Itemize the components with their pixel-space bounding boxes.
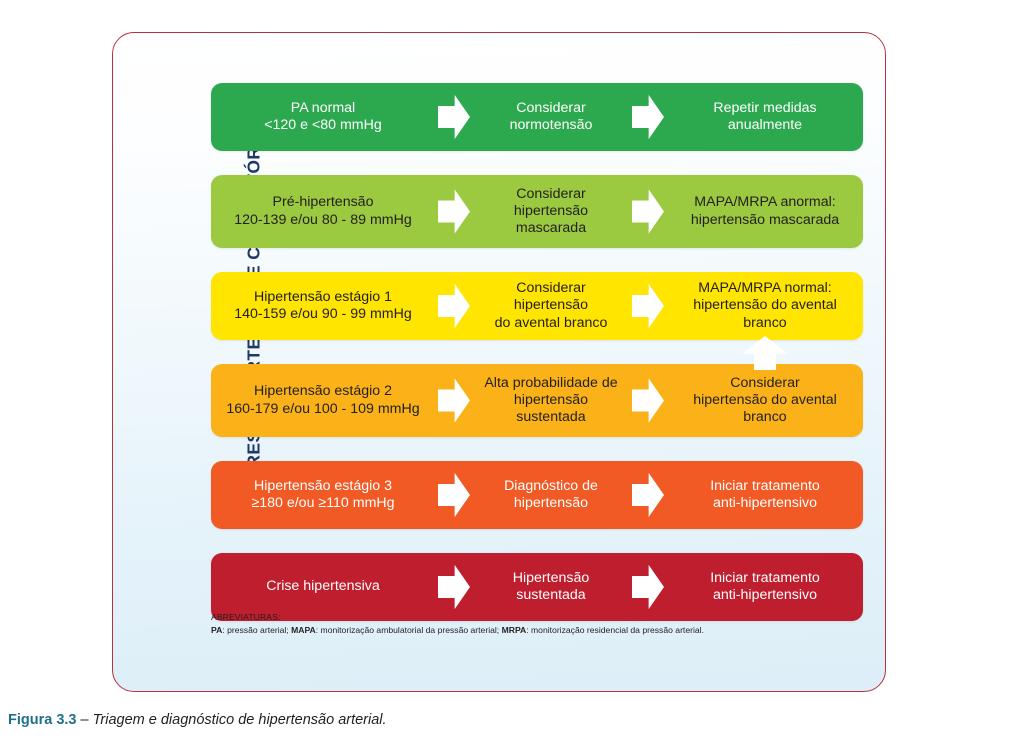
cell-line: anti-hipertensivo xyxy=(710,495,820,512)
abbrev-val-mrpa: : monitorização residencial da pressão a… xyxy=(526,625,704,635)
row-cell-condition: Hipertensão estágio 3 ≥180 e/ou ≥110 mmH… xyxy=(211,461,435,529)
arrow-right-icon xyxy=(629,364,667,437)
arrow-right-icon xyxy=(435,364,473,437)
row-cell-condition: PA normal <120 e <80 mmHg xyxy=(211,83,435,151)
cell-line: branco xyxy=(693,409,837,426)
cell-line: Hipertensão xyxy=(513,570,590,587)
cell-line: Hipertensão estágio 2 xyxy=(226,383,419,400)
cell-line: normotensão xyxy=(510,117,593,134)
cell-line: 140-159 e/ou 90 - 99 mmHg xyxy=(234,306,411,323)
cell-line: Hipertensão estágio 1 xyxy=(234,289,411,306)
cell-line: Alta probabilidade de xyxy=(479,375,623,392)
abbrev-val-mapa: : monitorização ambulatorial da pressão … xyxy=(316,625,502,635)
cell-line: hipertensão do avental xyxy=(693,297,837,314)
row-cell-action: Iniciar tratamento anti-hipertensivo xyxy=(667,461,863,529)
row-cell-assessment: Considerar hipertensão do avental branco xyxy=(473,272,629,340)
cell-line: Considerar xyxy=(510,100,593,117)
cell-line: <120 e <80 mmHg xyxy=(264,117,382,134)
flow-row-estagio-2[interactable]: Hipertensão estágio 2 160-179 e/ou 100 -… xyxy=(211,364,863,437)
abbreviations-title: ABREVIATURAS: xyxy=(211,611,871,624)
flow-row-estagio-3[interactable]: Hipertensão estágio 3 ≥180 e/ou ≥110 mmH… xyxy=(211,461,863,529)
cell-line: hipertensão do avental xyxy=(693,392,837,409)
figure-page: PRESSÃO ARTERIAL DE CONSULTÓRIO PA norma… xyxy=(0,0,1024,754)
arrow-right-icon xyxy=(629,461,667,529)
cell-line: branco xyxy=(693,315,837,332)
cell-line: Repetir medidas xyxy=(713,100,816,117)
arrow-right-icon xyxy=(435,175,473,248)
cell-line: Diagnóstico de xyxy=(504,478,598,495)
cell-line: hipertensão xyxy=(514,203,588,220)
cell-line: Iniciar tratamento xyxy=(710,570,820,587)
abbrev-val-pa: : pressão arterial; xyxy=(222,625,291,635)
arrow-right-icon xyxy=(435,272,473,340)
row-cell-condition: Hipertensão estágio 2 160-179 e/ou 100 -… xyxy=(211,364,435,437)
cell-line: 120-139 e/ou 80 - 89 mmHg xyxy=(234,212,411,229)
row-cell-assessment: Diagnóstico de hipertensão xyxy=(473,461,629,529)
flow-row-estagio-1[interactable]: Hipertensão estágio 1 140-159 e/ou 90 - … xyxy=(211,272,863,340)
row-cell-condition: Hipertensão estágio 1 140-159 e/ou 90 - … xyxy=(211,272,435,340)
figure-frame: PRESSÃO ARTERIAL DE CONSULTÓRIO PA norma… xyxy=(112,32,886,692)
row-cell-action: Repetir medidas anualmente xyxy=(667,83,863,151)
cell-line: 160-179 e/ou 100 - 109 mmHg xyxy=(226,401,419,418)
cell-line: hipertensão mascarada xyxy=(691,212,839,229)
cell-line: anualmente xyxy=(713,117,816,134)
row-cell-action: MAPA/MRPA anormal: hipertensão mascarada xyxy=(667,175,863,248)
cell-line: hipertensão sustentada xyxy=(479,392,623,427)
flow-row-pre-hipertensao[interactable]: Pré-hipertensão 120-139 e/ou 80 - 89 mmH… xyxy=(211,175,863,248)
caption-text: Triagem e diagnóstico de hipertensão art… xyxy=(93,712,387,728)
abbreviations-body: PA: pressão arterial; MAPA: monitorizaçã… xyxy=(211,624,871,637)
row-cell-assessment: Considerar normotensão xyxy=(473,83,629,151)
arrow-right-icon xyxy=(629,175,667,248)
row-cell-condition: Pré-hipertensão 120-139 e/ou 80 - 89 mmH… xyxy=(211,175,435,248)
arrow-right-icon xyxy=(435,83,473,151)
cell-line: sustentada xyxy=(513,587,590,604)
arrow-right-icon xyxy=(629,272,667,340)
cell-line: Iniciar tratamento xyxy=(710,478,820,495)
cell-line: MAPA/MRPA normal: xyxy=(693,280,837,297)
row-cell-action: MAPA/MRPA normal: hipertensão do avental… xyxy=(667,272,863,340)
caption-dash: – xyxy=(77,712,93,728)
row-cell-assessment: Alta probabilidade de hipertensão susten… xyxy=(473,364,629,437)
cell-line: anti-hipertensivo xyxy=(710,587,820,604)
cell-line: Pré-hipertensão xyxy=(234,194,411,211)
cell-line: Considerar hipertensão xyxy=(479,280,623,315)
cell-line: hipertensão xyxy=(504,495,598,512)
cell-line: Crise hipertensiva xyxy=(266,578,380,595)
cell-line: ≥180 e/ou ≥110 mmHg xyxy=(251,495,394,512)
cell-line: mascarada xyxy=(514,220,588,237)
figure-caption: Figura 3.3 – Triagem e diagnóstico de hi… xyxy=(8,712,387,728)
arrow-right-icon xyxy=(435,461,473,529)
row-cell-assessment: Considerar hipertensão mascarada xyxy=(473,175,629,248)
abbrev-key-pa: PA xyxy=(211,625,222,635)
abbrev-key-mrpa: MRPA xyxy=(502,625,527,635)
arrow-right-icon xyxy=(629,83,667,151)
figure-number: Figura 3.3 xyxy=(8,712,77,728)
row-cell-action: Considerar hipertensão do avental branco xyxy=(667,364,863,437)
abbreviations-block: ABREVIATURAS: PA: pressão arterial; MAPA… xyxy=(211,611,871,638)
cell-line: Hipertensão estágio 3 xyxy=(251,478,394,495)
flow-row-pa-normal[interactable]: PA normal <120 e <80 mmHg Considerar nor… xyxy=(211,83,863,151)
cell-line: MAPA/MRPA anormal: xyxy=(691,194,839,211)
cell-line: Considerar xyxy=(514,186,588,203)
abbrev-key-mapa: MAPA xyxy=(291,625,316,635)
cell-line: PA normal xyxy=(264,100,382,117)
cell-line: Considerar xyxy=(693,375,837,392)
cell-line: do avental branco xyxy=(479,315,623,332)
